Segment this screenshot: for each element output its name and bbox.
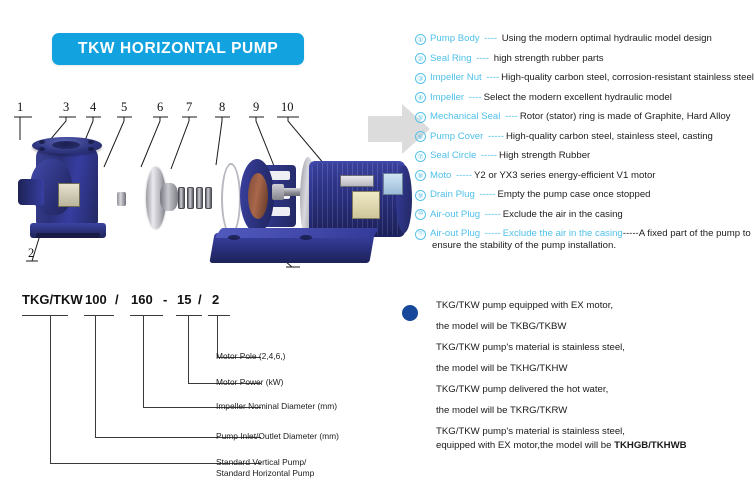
- casing-nameplate: [58, 183, 80, 207]
- leader-vertical-power: [188, 315, 189, 383]
- seal-circle-oring: [221, 163, 241, 235]
- legend-term: Seal Circle: [430, 150, 476, 161]
- callout-2: 2: [28, 247, 34, 260]
- legend-item-8: ⑧ Moto -----Y2 or YX3 series energy-effi…: [415, 170, 756, 182]
- model-part-inlet: 100: [85, 292, 107, 307]
- shaft-step: [272, 184, 284, 200]
- impeller-hub: [160, 183, 178, 211]
- legend-term: Air-out Plug: [430, 228, 480, 239]
- legend-separator: -----: [482, 209, 501, 220]
- model-sep-slash-1: /: [115, 292, 119, 307]
- note-line-7: TKG/TKW pump's material is stainless ste…: [436, 426, 756, 438]
- legend-item-11: ⑪ Air-out Plug -----Exclude the air in t…: [415, 228, 756, 252]
- legend-number-icon: ⑪: [415, 229, 426, 240]
- model-designation-diagram: TKG/TKW 100 / 160 - 15 / 2 Motor Pole (2…: [0, 292, 400, 500]
- legend-separator: -----: [478, 150, 497, 161]
- legend-separator: -----: [485, 131, 504, 142]
- page-title-text: TKW HORIZONTAL PUMP: [78, 40, 278, 58]
- model-label-motor-power: Motor Power (kW): [216, 377, 283, 388]
- motor-nameplate: [340, 175, 374, 187]
- legend-number-icon: ②: [415, 53, 426, 64]
- legend-number-icon: ⑦: [415, 151, 426, 162]
- model-part-pole: 2: [212, 292, 219, 307]
- legend-separator: ----: [502, 111, 517, 122]
- discharge-flange: [32, 137, 102, 154]
- callout-8: 8: [219, 101, 225, 114]
- model-underline-5: [208, 315, 230, 316]
- parts-legend: ① Pump Body ---- Using the modern optima…: [415, 33, 756, 260]
- legend-term: Impeller Nut: [430, 72, 482, 83]
- legend-description: -----A fixed part of the pump to: [623, 228, 751, 239]
- base-plate-hole: [228, 235, 240, 240]
- bullet-icon: [402, 305, 418, 321]
- note-line-1: TKG/TKW pump equipped with EX motor,: [436, 300, 756, 312]
- legend-separator: ----: [484, 72, 499, 83]
- legend-description: Select the modern excellent hydraulic mo…: [484, 92, 672, 103]
- callout-5: 5: [121, 101, 127, 114]
- legend-item-7: ⑦ Seal Circle -----High strength Rubber: [415, 150, 756, 162]
- legend-term: Pump Cover: [430, 131, 483, 142]
- model-part-series: TKG/TKW: [22, 292, 83, 307]
- model-code-row: TKG/TKW 100 / 160 - 15 / 2: [0, 292, 400, 314]
- legend-number-icon: ①: [415, 34, 426, 45]
- note-line-6: the model will be TKRG/TKRW: [436, 405, 756, 417]
- exploded-pump-diagram: 1 3 4 5 6 7 8 9 10 2 11: [0, 95, 400, 290]
- legend-description: High-quality carbon steel, stainless ste…: [506, 131, 713, 142]
- model-underline-3: [130, 315, 163, 316]
- legend-description-line2: ensure the stability of the pump install…: [432, 240, 751, 252]
- legend-separator: ----: [466, 92, 481, 103]
- legend-description-blue: Exclude the air in the casing: [503, 228, 623, 239]
- legend-term: Air-out Plug: [430, 209, 480, 220]
- base-plate-hole: [300, 235, 312, 240]
- model-underline-2: [84, 315, 114, 316]
- legend-item-2: ② Seal Ring ---- high strength rubber pa…: [415, 53, 756, 65]
- note-line-3: TKG/TKW pump's material is stainless ste…: [436, 342, 756, 354]
- note-line-8-model: TKHGB/TKHWB: [614, 440, 686, 451]
- legend-term: Pump Body: [430, 33, 480, 44]
- legend-separator: ----: [474, 53, 492, 64]
- flange-bolt: [88, 147, 94, 151]
- legend-term: Drain Plug: [430, 189, 475, 200]
- legend-number-icon: ⑨: [415, 190, 426, 201]
- legend-separator: -----: [482, 228, 501, 239]
- pump-cover-part: [240, 159, 296, 233]
- callout-10: 10: [281, 101, 294, 114]
- motor-label-tag: [383, 173, 403, 195]
- note-line-5: TKG/TKW pump delivered the hot water,: [436, 384, 756, 396]
- legend-description: Exclude the air in the casing: [503, 209, 623, 220]
- legend-item-10: ⑩ Air-out Plug -----Exclude the air in t…: [415, 209, 756, 221]
- legend-item-5: ⑤ Mechanical Seal ----Rotor (stator) rin…: [415, 111, 756, 123]
- legend-item-4: ④ Impeller ----Select the modern excelle…: [415, 92, 756, 104]
- legend-description: Y2 or YX3 series energy-efficient V1 mot…: [474, 170, 656, 181]
- suction-nozzle: [18, 179, 44, 205]
- mechanical-seal-ring-2: [187, 187, 194, 209]
- mechanical-seal-ring-1: [178, 187, 185, 209]
- cover-bore: [248, 173, 268, 219]
- legend-description: High strength Rubber: [499, 150, 590, 161]
- mechanical-seal-ring-3: [196, 187, 203, 209]
- model-label-impeller-dia: Impeller Nominal Diameter (mm): [216, 401, 337, 412]
- legend-term: Impeller: [430, 92, 464, 103]
- legend-separator: -----: [453, 170, 472, 181]
- leader-vertical-standard: [50, 315, 51, 463]
- legend-item-3: ③ Impeller Nut ----High-quality carbon s…: [415, 72, 756, 84]
- legend-description: Rotor (stator) ring is made of Graphite,…: [520, 111, 731, 122]
- legend-term: Moto: [430, 170, 451, 181]
- leader-vertical-impeller: [143, 315, 144, 407]
- callout-1: 1: [17, 101, 23, 114]
- motor-terminal-box: [352, 191, 380, 219]
- callout-3: 3: [63, 101, 69, 114]
- legend-description: High-quality carbon steel, corrosion-res…: [501, 72, 754, 83]
- note-line-8: equipped with EX motor,the model will be…: [436, 440, 756, 452]
- model-label-motor-pole: Motor Pole (2,4,6,): [216, 351, 285, 362]
- model-underline-4: [176, 315, 202, 316]
- legend-item-9: ⑨ Drain Plug -----Empty the pump case on…: [415, 189, 756, 201]
- legend-separator: ----: [482, 33, 500, 44]
- legend-number-icon: ⑩: [415, 209, 426, 220]
- model-part-impeller: 160: [131, 292, 153, 307]
- legend-description: high strength rubber parts: [494, 53, 604, 64]
- model-part-power: 15: [177, 292, 191, 307]
- pump-foot: [30, 223, 106, 238]
- callout-4: 4: [90, 101, 96, 114]
- legend-description: Empty the pump case once stopped: [497, 189, 650, 200]
- model-label-standard-2: Standard Horizontal Pump: [216, 468, 314, 479]
- page-title: TKW HORIZONTAL PUMP: [52, 33, 304, 65]
- flange-bolt: [39, 140, 45, 144]
- model-variant-notes: TKG/TKW pump equipped with EX motor, the…: [398, 300, 756, 461]
- note-line-8-text: equipped with EX motor,the model will be: [436, 440, 614, 451]
- legend-item-6: ⑥ Pump Cover -----High-quality carbon st…: [415, 131, 756, 143]
- legend-term: Seal Ring: [430, 53, 472, 64]
- poster-root: TKW HORIZONTAL PUMP: [0, 0, 756, 500]
- legend-number-icon: ⑧: [415, 170, 426, 181]
- legend-number-icon: ③: [415, 73, 426, 84]
- legend-term: Mechanical Seal: [430, 111, 500, 122]
- legend-number-icon: ④: [415, 92, 426, 103]
- legend-number-icon: ⑤: [415, 112, 426, 123]
- legend-number-icon: ⑥: [415, 131, 426, 142]
- model-label-standard-1: Standard Vertical Pump/: [216, 457, 306, 468]
- model-sep-dash: -: [163, 292, 167, 307]
- legend-item-1: ① Pump Body ---- Using the modern optima…: [415, 33, 756, 45]
- model-underline-1: [22, 315, 68, 316]
- mechanical-seal-ring-4: [205, 187, 212, 209]
- model-label-inlet-outlet: Pump Inlet/Outlet Diameter (mm): [216, 431, 339, 442]
- legend-separator: -----: [477, 189, 496, 200]
- callout-6: 6: [157, 101, 163, 114]
- flange-bolt: [88, 140, 94, 144]
- note-line-4: the model will be TKHG/TKHW: [436, 363, 756, 375]
- note-line-2: the model will be TKBG/TKBW: [436, 321, 756, 333]
- legend-description: Using the modern optimal hydraulic model…: [502, 33, 712, 44]
- callout-9: 9: [253, 101, 259, 114]
- flange-bolt: [39, 147, 45, 151]
- impeller-nut-part: [117, 192, 126, 206]
- leader-vertical-inlet: [95, 315, 96, 437]
- callout-7: 7: [186, 101, 192, 114]
- model-sep-slash-2: /: [198, 292, 202, 307]
